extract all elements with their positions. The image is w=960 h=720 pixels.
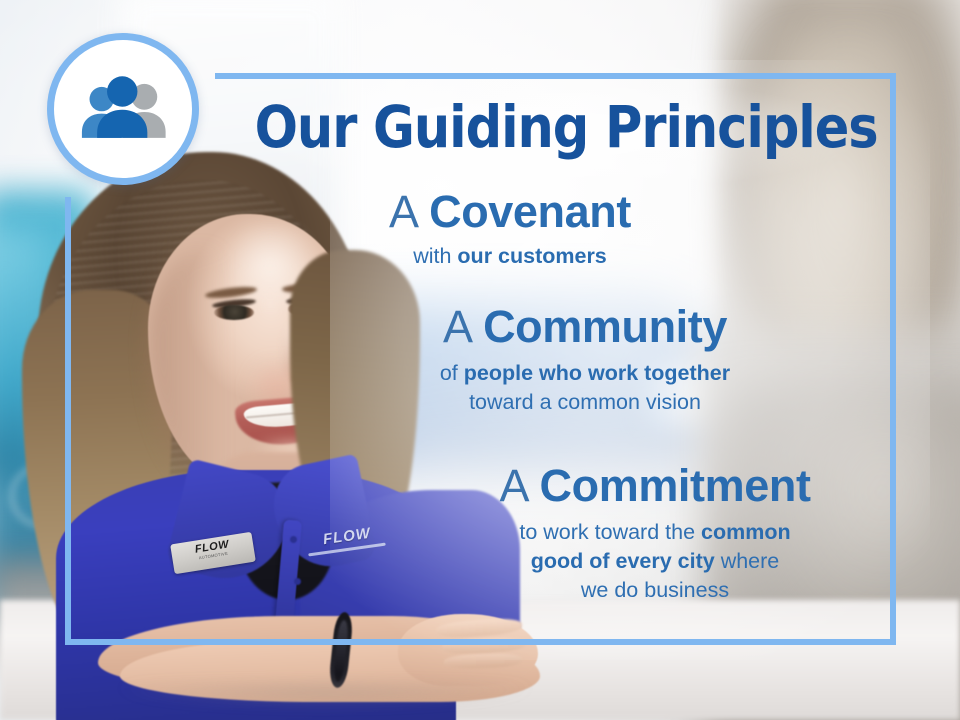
principle-community-article: A bbox=[443, 301, 471, 352]
principle-community-word: Community bbox=[483, 301, 727, 352]
principle-covenant-subtext: with our customers bbox=[300, 242, 720, 271]
sub-run-bold: our customers bbox=[457, 244, 606, 268]
people-group-icon-badge bbox=[47, 33, 199, 185]
principle-covenant-article: A bbox=[389, 186, 417, 237]
sub-run-bold: people who work together bbox=[464, 361, 730, 385]
principle-community-subline-2: toward a common vision bbox=[370, 388, 800, 417]
woman-eye-left bbox=[214, 305, 254, 320]
sub-run: with bbox=[413, 244, 457, 268]
sub-run-bold: good of every city bbox=[531, 549, 715, 573]
principle-covenant-heading: A Covenant bbox=[300, 188, 720, 236]
principle-commitment-article: A bbox=[499, 460, 527, 511]
principle-covenant-word: Covenant bbox=[429, 186, 631, 237]
banner-graphic: FLOW AUTOMOTIVE FLOW bbox=[0, 0, 960, 720]
principle-commitment-subline-3: we do business bbox=[430, 576, 880, 605]
principle-commitment: A Commitment to work toward the common g… bbox=[430, 462, 880, 605]
principle-commitment-heading: A Commitment bbox=[430, 462, 880, 510]
principle-commitment-word: Commitment bbox=[540, 460, 811, 511]
woman-shirt-button-top bbox=[290, 536, 297, 543]
principle-commitment-subline-2: good of every city where bbox=[430, 547, 880, 576]
page-title: Our Guiding Principles bbox=[255, 98, 836, 157]
principle-community-subline-1: of people who work together bbox=[370, 359, 800, 388]
woman-shirt-button-bottom bbox=[294, 578, 301, 585]
principle-commitment-subline-1: to work toward the common bbox=[430, 518, 880, 547]
principle-covenant-subline-1: with our customers bbox=[300, 242, 720, 271]
principle-community-heading: A Community bbox=[370, 303, 800, 351]
sub-run-bold: common bbox=[701, 520, 791, 544]
principle-covenant: A Covenant with our customers bbox=[300, 188, 720, 271]
principle-community-subtext: of people who work together toward a com… bbox=[370, 359, 800, 417]
sub-run: where bbox=[715, 549, 780, 573]
sub-run: of bbox=[440, 361, 464, 385]
principle-community: A Community of people who work together … bbox=[370, 303, 800, 417]
people-group-icon bbox=[77, 74, 169, 144]
sub-run: to work toward the bbox=[519, 520, 701, 544]
principle-commitment-subtext: to work toward the common good of every … bbox=[430, 518, 880, 605]
arm-table-shadow bbox=[90, 686, 560, 712]
